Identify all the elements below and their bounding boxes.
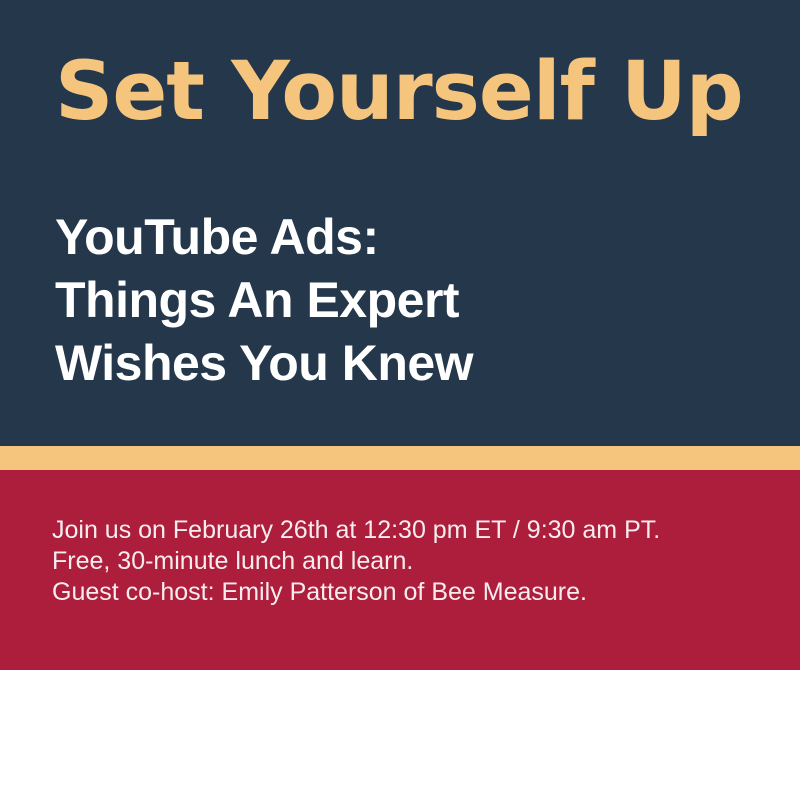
gold-accent-divider — [0, 446, 800, 470]
details-line-2: Free, 30-minute lunch and learn. — [52, 546, 752, 577]
details-line-1: Join us on February 26th at 12:30 pm ET … — [52, 515, 752, 546]
subtitle-line-3: Wishes You Knew — [55, 332, 775, 395]
subtitle-line-2: Things An Expert — [55, 269, 775, 332]
header-band: Set Yourself Up YouTube Ads: Things An E… — [0, 0, 800, 446]
details-line-3: Guest co-host: Emily Patterson of Bee Me… — [52, 577, 752, 608]
footer-band: Hosted by: — [0, 670, 800, 800]
event-promo-poster: Set Yourself Up YouTube Ads: Things An E… — [0, 0, 800, 800]
page-title: Set Yourself Up — [55, 52, 755, 133]
event-details-text: Join us on February 26th at 12:30 pm ET … — [52, 515, 752, 608]
details-band: Join us on February 26th at 12:30 pm ET … — [0, 470, 800, 670]
page-subtitle: YouTube Ads: Things An Expert Wishes You… — [55, 206, 775, 395]
subtitle-line-1: YouTube Ads: — [55, 206, 775, 269]
